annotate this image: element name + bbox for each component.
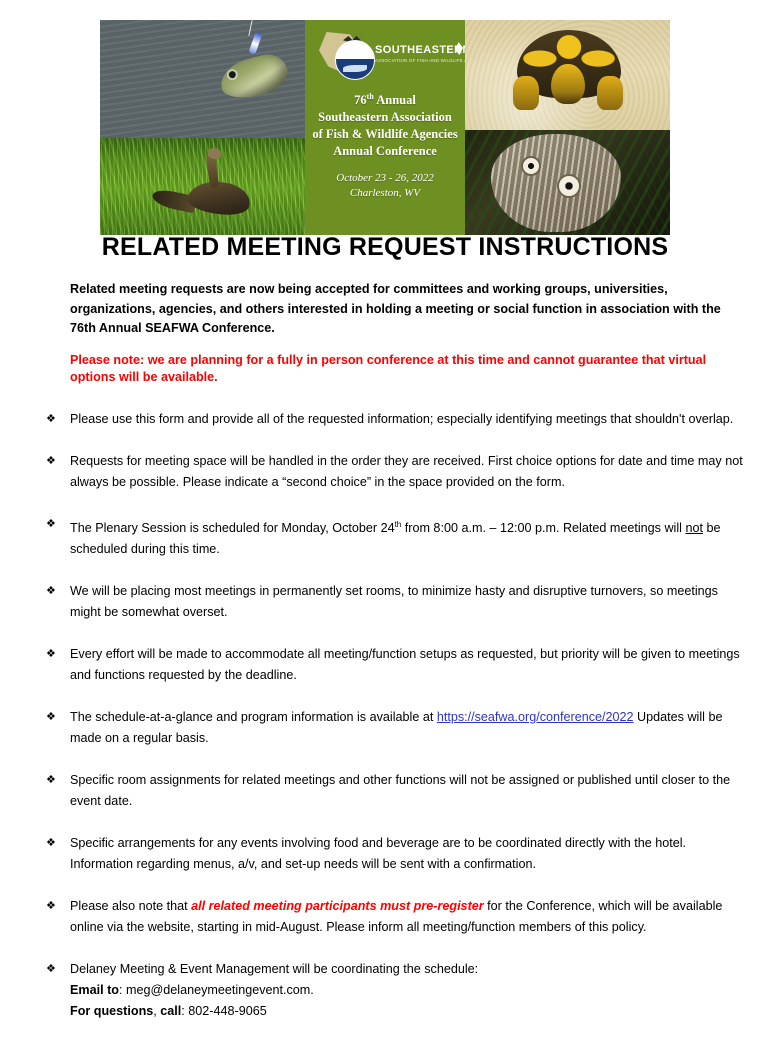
banner-location: Charleston, WV bbox=[309, 186, 461, 201]
wild-turkey-photo bbox=[100, 138, 305, 235]
list-item-text-part: The schedule-at-a-glance and program inf… bbox=[70, 710, 437, 724]
box-turtle-photo bbox=[465, 20, 670, 130]
fish-emblem-icon bbox=[335, 40, 375, 80]
email-value: : meg@delaneymeetingevent.com. bbox=[119, 983, 314, 997]
list-item: ❖ Requests for meeting space will be han… bbox=[44, 451, 744, 493]
list-item-text: Specific room assignments for related me… bbox=[70, 773, 730, 808]
list-item-text-part: Please also note that bbox=[70, 899, 191, 913]
list-item-text: Every effort will be made to accommodate… bbox=[70, 647, 740, 682]
owl-face bbox=[491, 134, 621, 232]
list-item: ❖ Specific room assignments for related … bbox=[44, 770, 744, 812]
conference-banner: SOUTHEASTERN ASSOCIATION OF FISH AND WIL… bbox=[100, 20, 670, 235]
seafwa-conference-link[interactable]: https://seafwa.org/conference/2022 bbox=[437, 710, 634, 724]
email-label: Email to bbox=[70, 983, 119, 997]
intro-paragraph: Related meeting requests are now being a… bbox=[70, 280, 736, 339]
screech-owl-photo bbox=[465, 130, 670, 235]
turtle-left-leg bbox=[513, 76, 539, 110]
list-item-text: Specific arrangements for any events inv… bbox=[70, 836, 686, 871]
banner-left-column bbox=[100, 20, 305, 235]
banner-title-line-4: Annual Conference bbox=[309, 143, 461, 160]
list-item-text: We will be placing most meetings in perm… bbox=[70, 584, 718, 619]
coordinator-line: Delaney Meeting & Event Management will … bbox=[70, 959, 744, 980]
seafwa-logo: SOUTHEASTERN ASSOCIATION OF FISH AND WIL… bbox=[309, 30, 461, 82]
turkey-body bbox=[186, 178, 252, 218]
list-item-text: Please use this form and provide all of … bbox=[70, 412, 733, 426]
banner-title-line-1: 76th Annual bbox=[309, 88, 461, 109]
owl-right-eye bbox=[557, 174, 581, 198]
list-item: ❖ Please also note that all related meet… bbox=[44, 896, 744, 938]
page-title: RELATED MEETING REQUEST INSTRUCTIONS bbox=[0, 233, 770, 262]
email-line: Email to: meg@delaneymeetingevent.com. bbox=[70, 980, 744, 1001]
list-item: ❖ The schedule-at-a-glance and program i… bbox=[44, 707, 744, 749]
bullet-icon: ❖ bbox=[46, 896, 56, 917]
banner-date: October 23 - 26, 2022 bbox=[309, 171, 461, 186]
call-label: call bbox=[160, 1004, 181, 1018]
turkey-head bbox=[208, 148, 221, 159]
phone-value: : 802-448-9065 bbox=[181, 1004, 266, 1018]
questions-label: For questions bbox=[70, 1004, 153, 1018]
list-item: ❖ We will be placing most meetings in pe… bbox=[44, 581, 744, 623]
logo-subtext: ASSOCIATION OF FISH AND WILDLIFE AGENCIE… bbox=[375, 58, 465, 63]
list-item: ❖ Every effort will be made to accommoda… bbox=[44, 644, 744, 686]
bullet-icon: ❖ bbox=[46, 959, 56, 980]
fishing-line bbox=[248, 20, 252, 36]
list-item-text-part: The Plenary Session is scheduled for Mon… bbox=[70, 521, 395, 535]
bullet-icon: ❖ bbox=[46, 707, 56, 728]
phone-line: For questions, call: 802-448-9065 bbox=[70, 1001, 744, 1022]
fish-eye bbox=[228, 70, 236, 78]
banner-center-panel: SOUTHEASTERN ASSOCIATION OF FISH AND WIL… bbox=[305, 20, 465, 235]
bullet-icon: ❖ bbox=[46, 581, 56, 602]
bullet-icon: ❖ bbox=[46, 409, 56, 430]
banner-right-column bbox=[465, 20, 670, 235]
document-body: Related meeting requests are now being a… bbox=[44, 280, 744, 1043]
bullet-icon: ❖ bbox=[46, 833, 56, 854]
list-item: ❖ Delaney Meeting & Event Management wil… bbox=[44, 959, 744, 1022]
underlined-not: not bbox=[685, 521, 703, 535]
list-item: ❖ Specific arrangements for any events i… bbox=[44, 833, 744, 875]
turtle-head bbox=[551, 64, 585, 104]
instructions-list: ❖ Please use this form and provide all o… bbox=[44, 409, 744, 1022]
pre-register-emphasis: all related meeting participants must pr… bbox=[191, 899, 484, 913]
banner-title-line-3: of Fish & Wildlife Agencies bbox=[309, 126, 461, 143]
fishing-lure bbox=[248, 31, 262, 54]
bullet-icon: ❖ bbox=[46, 451, 56, 472]
logo-wordmark: SOUTHEASTERN bbox=[375, 44, 465, 56]
list-item-text: Requests for meeting space will be handl… bbox=[70, 454, 743, 489]
turtle-right-leg bbox=[597, 76, 623, 110]
banner-title-line-2: Southeastern Association bbox=[309, 109, 461, 126]
list-item: ❖ Please use this form and provide all o… bbox=[44, 409, 744, 430]
bullet-icon: ❖ bbox=[46, 770, 56, 791]
bullet-icon: ❖ bbox=[46, 514, 56, 535]
list-item-text-part: from 8:00 a.m. – 12:00 p.m. Related meet… bbox=[401, 521, 685, 535]
owl-left-eye bbox=[521, 156, 541, 176]
list-item: ❖ The Plenary Session is scheduled for M… bbox=[44, 514, 744, 560]
bullet-icon: ❖ bbox=[46, 644, 56, 665]
largemouth-bass-photo bbox=[100, 20, 305, 138]
bass-fish bbox=[216, 50, 291, 103]
please-note-paragraph: Please note: we are planning for a fully… bbox=[70, 352, 736, 387]
